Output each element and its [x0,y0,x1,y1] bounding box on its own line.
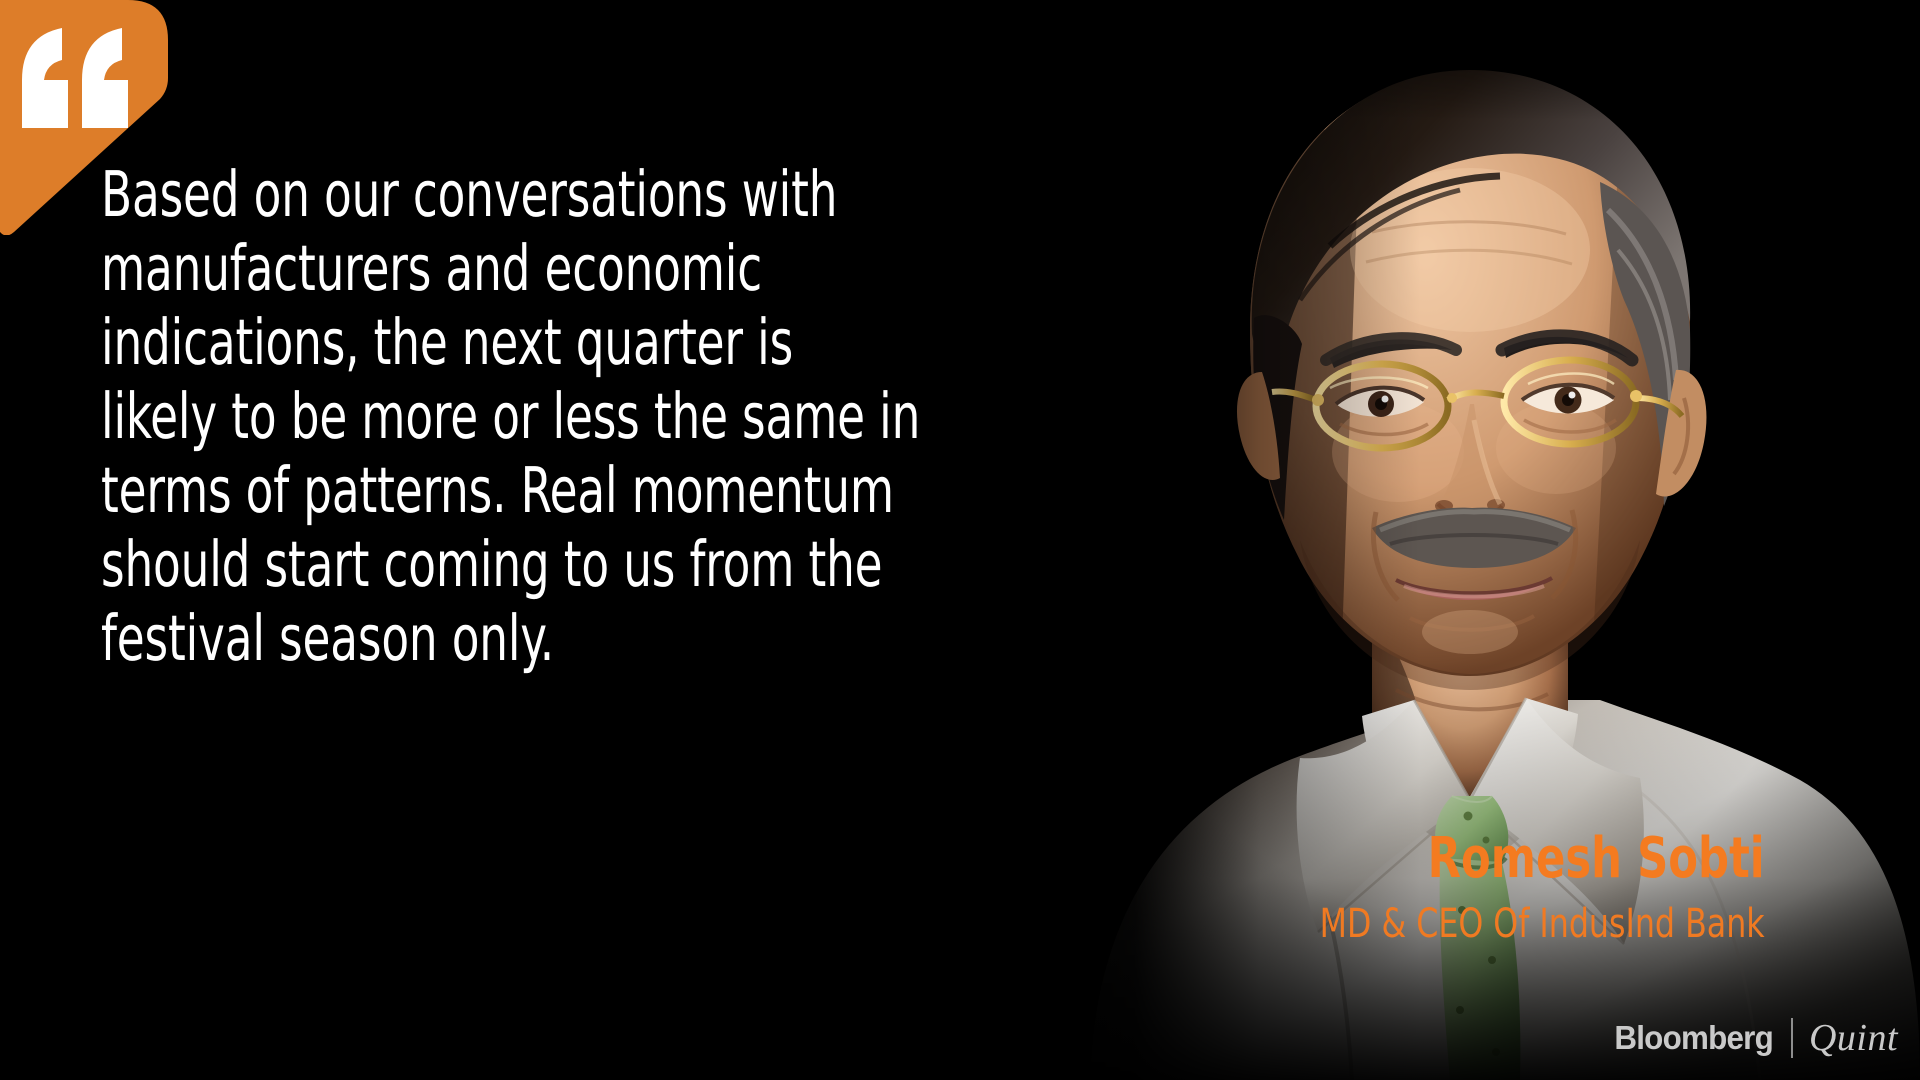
attribution-block: Romesh Sobti MD & CEO Of IndusInd Bank [1259,828,1765,948]
bloomberg-quint-logo: Bloomberg Quint [1606,1016,1898,1060]
logo-bloomberg-wordmark: Bloomberg [1614,1019,1773,1057]
logo-quint-wordmark: Quint [1809,1016,1898,1060]
quote-card: Based on our conversations with manufact… [0,0,1920,1080]
logo-divider [1791,1018,1793,1058]
quote-block: Based on our conversations with manufact… [101,158,1021,676]
speaker-name: Romesh Sobti [1330,828,1765,890]
speaker-title: MD & CEO Of IndusInd Bank [1320,900,1765,948]
quote-text: Based on our conversations with manufact… [101,158,1021,676]
